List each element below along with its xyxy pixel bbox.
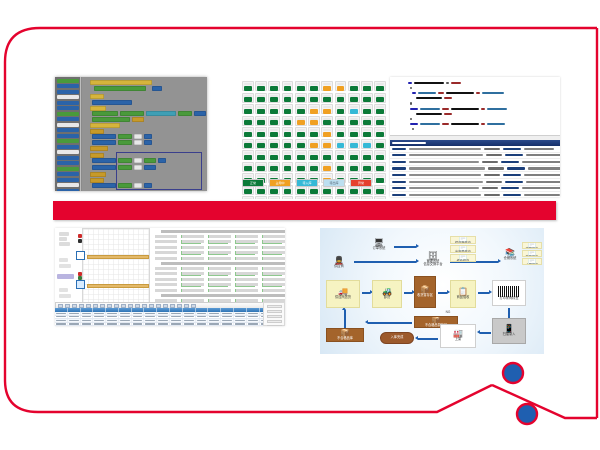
- bin-cell-green[interactable]: [295, 81, 307, 91]
- datagrid-cell[interactable]: [170, 316, 183, 319]
- bin-cell-green[interactable]: [255, 104, 267, 114]
- code-block[interactable]: [90, 123, 120, 128]
- datagrid-toolbar-button[interactable]: [170, 304, 175, 308]
- datagrid-cell[interactable]: [221, 316, 234, 319]
- palette-block-blue[interactable]: [57, 189, 79, 192]
- datagrid-toolbar-button[interactable]: [128, 304, 133, 308]
- flow-node-doc-c[interactable]: 📄作业信息: [450, 254, 476, 262]
- flow-node-reject-store[interactable]: 📦不合格品库: [326, 328, 364, 342]
- datagrid-cell[interactable]: [81, 323, 94, 326]
- datagrid-toolbar-button[interactable]: [135, 304, 140, 308]
- flow-node-out-a[interactable]: 📄收货信息: [522, 242, 542, 249]
- flow-node-order-system[interactable]: 🖥订单系统: [368, 236, 390, 254]
- screenshot-code-editor[interactable]: [390, 77, 560, 197]
- bin-cell-orange[interactable]: [308, 139, 320, 149]
- form-field-row[interactable]: [263, 283, 285, 287]
- bin-cell-green[interactable]: [361, 196, 373, 199]
- bin-cell-orange[interactable]: [321, 196, 333, 199]
- bin-cell-orange[interactable]: [308, 116, 320, 126]
- code-block[interactable]: [90, 80, 152, 85]
- datagrid-cell[interactable]: [247, 316, 260, 319]
- code-block[interactable]: [92, 134, 116, 139]
- datagrid-toolbar-button[interactable]: [142, 304, 147, 308]
- datagrid-cell[interactable]: [106, 323, 119, 326]
- bin-cell-green[interactable]: [282, 93, 294, 103]
- bin-cell-green[interactable]: [255, 93, 267, 103]
- code-block[interactable]: [132, 117, 144, 122]
- bin-cell-green[interactable]: [242, 93, 254, 103]
- palette-block-blue[interactable]: [57, 106, 79, 110]
- flow-node-inbound-truck[interactable]: 🚚供应商送货: [326, 280, 360, 308]
- code-block[interactable]: [134, 134, 142, 139]
- bin-cell-green[interactable]: [255, 81, 267, 91]
- datagrid-toolbar-button[interactable]: [149, 304, 154, 308]
- palette-block-blue[interactable]: [57, 134, 79, 138]
- form-field-label: [263, 251, 285, 254]
- datagrid-toolbar-button[interactable]: [156, 304, 161, 308]
- palette-block-blue[interactable]: [57, 101, 79, 105]
- code-block[interactable]: [152, 86, 162, 91]
- code-block[interactable]: [194, 111, 206, 116]
- code-block[interactable]: [134, 165, 142, 170]
- planner-bar[interactable]: [87, 284, 149, 288]
- planner-marker-green[interactable]: [78, 276, 82, 280]
- palette-block-blue[interactable]: [57, 145, 79, 149]
- datagrid-toolbar-button[interactable]: [58, 304, 63, 308]
- datagrid-cell[interactable]: [183, 316, 196, 319]
- bin-cell-green[interactable]: [361, 116, 373, 126]
- bin-cell-green[interactable]: [268, 162, 280, 172]
- bin-cell-green[interactable]: [282, 104, 294, 114]
- bin-cell-green[interactable]: [374, 93, 386, 103]
- bin-cell-green[interactable]: [374, 185, 386, 195]
- datagrid-cell[interactable]: [157, 312, 170, 315]
- datagrid-cell[interactable]: [55, 312, 68, 315]
- bin-cell-green[interactable]: [295, 127, 307, 137]
- flow-node-warehouse-sys[interactable]: 📚仓储系统: [500, 244, 520, 266]
- datagrid[interactable]: [55, 302, 285, 326]
- bin-cell-green[interactable]: [295, 162, 307, 172]
- log-row[interactable]: [390, 179, 560, 186]
- datagrid-cell[interactable]: [81, 312, 94, 315]
- datagrid-cell[interactable]: [144, 323, 157, 326]
- bin-cell-green[interactable]: [374, 150, 386, 160]
- code-block[interactable]: [94, 86, 146, 91]
- datagrid-cell[interactable]: [247, 319, 260, 322]
- palette-block-blue[interactable]: [57, 156, 79, 160]
- datagrid-cell[interactable]: [247, 312, 260, 315]
- datagrid-cell[interactable]: [68, 312, 81, 315]
- bin-cell-green[interactable]: [335, 196, 347, 199]
- palette-block-white[interactable]: [57, 150, 79, 154]
- datagrid-cell[interactable]: [157, 319, 170, 322]
- blocks-palette[interactable]: [55, 77, 81, 191]
- datagrid-cell[interactable]: [132, 312, 145, 315]
- datagrid-cell[interactable]: [183, 319, 196, 322]
- datagrid-toolbar-button[interactable]: [72, 304, 77, 308]
- datagrid-cell[interactable]: [55, 323, 68, 326]
- bin-cell-green[interactable]: [374, 127, 386, 137]
- bin-cell-green[interactable]: [255, 196, 267, 199]
- bin-cell-green[interactable]: [295, 139, 307, 149]
- flow-node-supplier[interactable]: 💂供应商: [326, 252, 352, 274]
- form-field-label: [155, 257, 177, 260]
- datagrid-cell[interactable]: [196, 316, 209, 319]
- bin-cell-orange[interactable]: [321, 127, 333, 137]
- datagrid-toolbar-button[interactable]: [100, 304, 105, 308]
- bin-cell-green[interactable]: [335, 162, 347, 172]
- planner-marker-red[interactable]: [78, 234, 82, 238]
- code-block[interactable]: [92, 100, 132, 105]
- code-block[interactable]: [118, 165, 132, 170]
- bin-cell-green[interactable]: [308, 150, 320, 160]
- bin-cell-green[interactable]: [335, 116, 347, 126]
- datagrid-cell[interactable]: [132, 316, 145, 319]
- form-field-row[interactable]: [263, 272, 285, 276]
- bin-cell-green[interactable]: [308, 93, 320, 103]
- bin-cell-green[interactable]: [308, 81, 320, 91]
- bin-cell-green[interactable]: [242, 196, 254, 199]
- log-row[interactable]: [390, 159, 560, 166]
- datagrid-cell[interactable]: [221, 323, 234, 326]
- code-block[interactable]: [144, 165, 156, 170]
- code-block[interactable]: [134, 158, 142, 163]
- form-field-row[interactable]: [263, 278, 285, 282]
- bin-cell-green[interactable]: [268, 196, 280, 199]
- code-block[interactable]: [92, 165, 116, 170]
- bin-cell-green[interactable]: [255, 139, 267, 149]
- datagrid-cell[interactable]: [68, 316, 81, 319]
- datagrid-cell[interactable]: [119, 312, 132, 315]
- code-block[interactable]: [118, 134, 132, 139]
- datagrid-cell[interactable]: [106, 316, 119, 319]
- datagrid-cell[interactable]: [208, 316, 221, 319]
- datagrid-cell[interactable]: [170, 323, 183, 326]
- datagrid-cell[interactable]: [81, 319, 94, 322]
- bin-cell-green[interactable]: [335, 104, 347, 114]
- palette-block-white[interactable]: [57, 95, 79, 99]
- bin-cell-cyan[interactable]: [348, 104, 360, 114]
- planner-node[interactable]: [76, 280, 85, 289]
- code-block[interactable]: [134, 183, 142, 188]
- datagrid-cell[interactable]: [106, 312, 119, 315]
- datagrid-cell[interactable]: [221, 319, 234, 322]
- datagrid-cell[interactable]: [144, 312, 157, 315]
- flow-node-inspect[interactable]: 📋商品验收: [450, 280, 476, 308]
- bin-cell-orange[interactable]: [321, 104, 333, 114]
- flow-node-out-c[interactable]: 📄上架信息: [522, 258, 542, 265]
- flow-node-scan-store[interactable]: 📱扫描录入: [492, 318, 526, 344]
- bin-cell-green[interactable]: [242, 127, 254, 137]
- datagrid-cell[interactable]: [234, 312, 247, 315]
- code-block[interactable]: [144, 134, 152, 139]
- datagrid-toolbar-button[interactable]: [177, 304, 182, 308]
- log-row[interactable]: [390, 192, 560, 197]
- palette-block-blue[interactable]: [57, 161, 79, 165]
- palette-block-blue[interactable]: [57, 128, 79, 132]
- bin-cell-green[interactable]: [268, 104, 280, 114]
- datagrid-cell[interactable]: [119, 323, 132, 326]
- bin-cell-green[interactable]: [255, 150, 267, 160]
- datagrid-cell[interactable]: [132, 319, 145, 322]
- bin-cell-green[interactable]: [268, 93, 280, 103]
- bin-cell-green[interactable]: [321, 93, 333, 103]
- bin-cell-green[interactable]: [282, 139, 294, 149]
- bin-cell-orange[interactable]: [335, 81, 347, 91]
- bin-cell-green[interactable]: [242, 150, 254, 160]
- datagrid-cell[interactable]: [55, 319, 68, 322]
- palette-block-green[interactable]: [57, 139, 79, 143]
- bin-cell-green[interactable]: [255, 116, 267, 126]
- bin-cell-cyan[interactable]: [335, 139, 347, 149]
- bin-cell-green[interactable]: [374, 81, 386, 91]
- code-block[interactable]: [90, 172, 106, 177]
- datagrid-cell[interactable]: [196, 323, 209, 326]
- palette-block-green[interactable]: [57, 112, 79, 116]
- screenshot-planner-and-datagrid[interactable]: [55, 228, 285, 326]
- datagrid-cell[interactable]: [93, 316, 106, 319]
- bin-cell-green[interactable]: [321, 116, 333, 126]
- screenshot-logistics-flow-diagram[interactable]: 💂供应商🖥订单系统🗄管理系统 信息交换平台📄供应商信息📄出库单信息📄作业信息📚仓…: [320, 228, 544, 354]
- bin-cell-green[interactable]: [282, 150, 294, 160]
- palette-block-blue[interactable]: [57, 172, 79, 176]
- datagrid-cell[interactable]: [81, 316, 94, 319]
- datagrid-cell[interactable]: [234, 319, 247, 322]
- datagrid-toolbar-button[interactable]: [191, 304, 196, 308]
- datagrid-cell[interactable]: [119, 316, 132, 319]
- code-block[interactable]: [158, 158, 166, 163]
- code-block[interactable]: [118, 140, 132, 145]
- bin-cell-orange[interactable]: [321, 81, 333, 91]
- datagrid-toolbar-button[interactable]: [79, 304, 84, 308]
- palette-block-white[interactable]: [57, 123, 79, 127]
- code-block[interactable]: [92, 140, 116, 145]
- datagrid-cell[interactable]: [208, 312, 221, 315]
- bin-cell-cyan[interactable]: [361, 139, 373, 149]
- code-block[interactable]: [92, 183, 116, 188]
- datagrid-cell[interactable]: [247, 323, 260, 326]
- code-block[interactable]: [144, 158, 156, 163]
- datagrid-cell[interactable]: [106, 319, 119, 322]
- datagrid-toolbar-button[interactable]: [65, 304, 70, 308]
- datagrid-cell[interactable]: [119, 319, 132, 322]
- datagrid-cell[interactable]: [183, 323, 196, 326]
- datagrid-cell[interactable]: [157, 316, 170, 319]
- blocks-canvas[interactable]: [82, 77, 207, 191]
- bin-cell-orange[interactable]: [321, 139, 333, 149]
- bin-cell-green[interactable]: [361, 162, 373, 172]
- datagrid-body[interactable]: [55, 312, 285, 326]
- bin-cell-green[interactable]: [348, 93, 360, 103]
- bin-cell-green[interactable]: [361, 150, 373, 160]
- palette-block-white[interactable]: [57, 183, 79, 187]
- bin-cell-green[interactable]: [242, 116, 254, 126]
- flow-node-doc-b[interactable]: 📄出库单信息: [450, 245, 476, 253]
- code-block[interactable]: [90, 94, 104, 99]
- bin-cell-green[interactable]: [335, 93, 347, 103]
- bin-cell-green[interactable]: [374, 196, 386, 199]
- datagrid-cell[interactable]: [208, 323, 221, 326]
- datagrid-toolbar-button[interactable]: [114, 304, 119, 308]
- form-field-row[interactable]: [263, 246, 285, 250]
- datagrid-cell[interactable]: [196, 312, 209, 315]
- datagrid-cell[interactable]: [93, 312, 106, 315]
- bin-cell-green[interactable]: [335, 150, 347, 160]
- datagrid-toolbar-button[interactable]: [107, 304, 112, 308]
- bin-cell-green[interactable]: [268, 116, 280, 126]
- log-row[interactable]: [390, 186, 560, 193]
- datagrid-cell[interactable]: [234, 316, 247, 319]
- bin-cell-green[interactable]: [374, 162, 386, 172]
- screenshot-status-grid[interactable]: 正常占用中待入库待出库异常: [240, 79, 388, 199]
- datagrid-cell[interactable]: [196, 319, 209, 322]
- screenshot-blocks-editor[interactable]: [55, 77, 207, 191]
- datagrid-cell[interactable]: [55, 316, 68, 319]
- palette-block-blue[interactable]: [57, 90, 79, 94]
- bin-cell-green[interactable]: [335, 127, 347, 137]
- bin-cell-green[interactable]: [242, 162, 254, 172]
- bin-cell-green[interactable]: [282, 116, 294, 126]
- datagrid-cell[interactable]: [234, 323, 247, 326]
- planner-marker-black[interactable]: [78, 239, 82, 243]
- form-field-row[interactable]: [263, 289, 285, 293]
- palette-block-green[interactable]: [57, 167, 79, 171]
- flow-node-doc-a[interactable]: 📄供应商信息: [450, 236, 476, 244]
- datagrid-cell[interactable]: [183, 312, 196, 315]
- bin-cell-green[interactable]: [348, 150, 360, 160]
- code-block[interactable]: [144, 140, 152, 145]
- log-row[interactable]: [390, 153, 560, 160]
- bin-cell-green[interactable]: [308, 127, 320, 137]
- datagrid-toolbar-button[interactable]: [163, 304, 168, 308]
- log-row[interactable]: [390, 166, 560, 173]
- bin-cell-green[interactable]: [295, 196, 307, 199]
- code-block[interactable]: [92, 111, 118, 116]
- palette-block-blue[interactable]: [57, 84, 79, 88]
- bin-cell-green[interactable]: [374, 116, 386, 126]
- bin-cell-green[interactable]: [282, 81, 294, 91]
- datagrid-cell[interactable]: [144, 319, 157, 322]
- datagrid-cell[interactable]: [170, 312, 183, 315]
- flow-node-complete[interactable]: 入库完成: [380, 332, 414, 344]
- bin-cell-green[interactable]: [268, 150, 280, 160]
- code-block[interactable]: [118, 158, 132, 163]
- bin-cell-orange[interactable]: [308, 104, 320, 114]
- code-block[interactable]: [144, 183, 152, 188]
- bin-cell-green[interactable]: [374, 104, 386, 114]
- form-field-row[interactable]: [263, 240, 285, 244]
- datagrid-cell[interactable]: [132, 323, 145, 326]
- flow-node-putaway[interactable]: 🏭上架: [440, 324, 476, 348]
- form-field-row[interactable]: [263, 235, 285, 239]
- planner-node[interactable]: [76, 251, 85, 260]
- datagrid-cell[interactable]: [144, 316, 157, 319]
- bin-cell-green[interactable]: [361, 127, 373, 137]
- flow-node-out-b[interactable]: 📄验收信息: [522, 250, 542, 257]
- bin-cell-green[interactable]: [321, 150, 333, 160]
- bin-cell-green[interactable]: [348, 127, 360, 137]
- form-field-row[interactable]: [263, 251, 285, 255]
- flow-node-unload[interactable]: 🚜卸货: [372, 280, 402, 308]
- datagrid-cell[interactable]: [68, 323, 81, 326]
- bin-cell-cyan[interactable]: [348, 139, 360, 149]
- bin-cell-green[interactable]: [242, 104, 254, 114]
- flow-node-stage-area[interactable]: 📦收货暂存区: [414, 276, 436, 308]
- datagrid-cell[interactable]: [93, 323, 106, 326]
- bin-cell-green[interactable]: [295, 104, 307, 114]
- palette-block-blue[interactable]: [57, 117, 79, 121]
- palette-block-blue[interactable]: [57, 178, 79, 182]
- bin-cell-green[interactable]: [361, 104, 373, 114]
- datagrid-toolbar-button[interactable]: [86, 304, 91, 308]
- bin-cell-green[interactable]: [255, 162, 267, 172]
- bin-cell-orange[interactable]: [321, 162, 333, 172]
- code-block[interactable]: [120, 111, 144, 116]
- bin-cell-green[interactable]: [374, 173, 386, 183]
- code-block[interactable]: [92, 158, 116, 163]
- bin-cell-green[interactable]: [295, 93, 307, 103]
- form-field-row[interactable]: [263, 267, 285, 271]
- code-block[interactable]: [90, 146, 108, 151]
- bin-cell-green[interactable]: [348, 196, 360, 199]
- datagrid-cell[interactable]: [93, 319, 106, 322]
- bin-cell-green[interactable]: [282, 196, 294, 199]
- datagrid-toolbar-button[interactable]: [184, 304, 189, 308]
- bin-cell-green[interactable]: [348, 162, 360, 172]
- bin-cell-green[interactable]: [361, 93, 373, 103]
- log-row[interactable]: [390, 146, 560, 153]
- datagrid-toolbar-button[interactable]: [121, 304, 126, 308]
- code-block[interactable]: [92, 117, 130, 122]
- datagrid-cell[interactable]: [68, 319, 81, 322]
- bin-cell-green[interactable]: [255, 127, 267, 137]
- bin-cell-green[interactable]: [242, 139, 254, 149]
- bin-cell-green[interactable]: [282, 162, 294, 172]
- bin-cell-green[interactable]: [308, 196, 320, 199]
- bin-cell-green[interactable]: [361, 81, 373, 91]
- log-row-list[interactable]: [390, 146, 560, 197]
- datagrid-cell[interactable]: [221, 312, 234, 315]
- code-block[interactable]: [146, 111, 176, 116]
- log-row[interactable]: [390, 172, 560, 179]
- bin-cell-green[interactable]: [348, 116, 360, 126]
- bin-cell-green[interactable]: [268, 139, 280, 149]
- bin-cell-green[interactable]: [348, 81, 360, 91]
- bin-cell-orange[interactable]: [295, 116, 307, 126]
- code-block[interactable]: [134, 140, 142, 145]
- datagrid-toolbar-button[interactable]: [93, 304, 98, 308]
- bin-cell-green[interactable]: [295, 150, 307, 160]
- bin-cell-green[interactable]: [268, 81, 280, 91]
- bin-cell-green[interactable]: [268, 127, 280, 137]
- form-field-row[interactable]: [263, 257, 285, 261]
- code-text-area[interactable]: [390, 77, 560, 133]
- bin-cell-green[interactable]: [374, 139, 386, 149]
- datagrid-cell[interactable]: [170, 319, 183, 322]
- planner-bar[interactable]: [87, 255, 149, 259]
- code-block[interactable]: [118, 183, 132, 188]
- code-block[interactable]: [178, 111, 192, 116]
- flow-node-erp-system[interactable]: 🗄管理系统 信息交换平台: [420, 244, 446, 274]
- bin-cell-green[interactable]: [308, 162, 320, 172]
- bin-cell-green[interactable]: [282, 127, 294, 137]
- datagrid-cell[interactable]: [157, 323, 170, 326]
- datagrid-side-buttons[interactable]: [263, 302, 285, 326]
- datagrid-cell[interactable]: [208, 319, 221, 322]
- palette-block-green[interactable]: [57, 79, 79, 83]
- flow-node-label-print[interactable]: 打印条码标签: [492, 280, 526, 306]
- bin-cell-green[interactable]: [242, 81, 254, 91]
